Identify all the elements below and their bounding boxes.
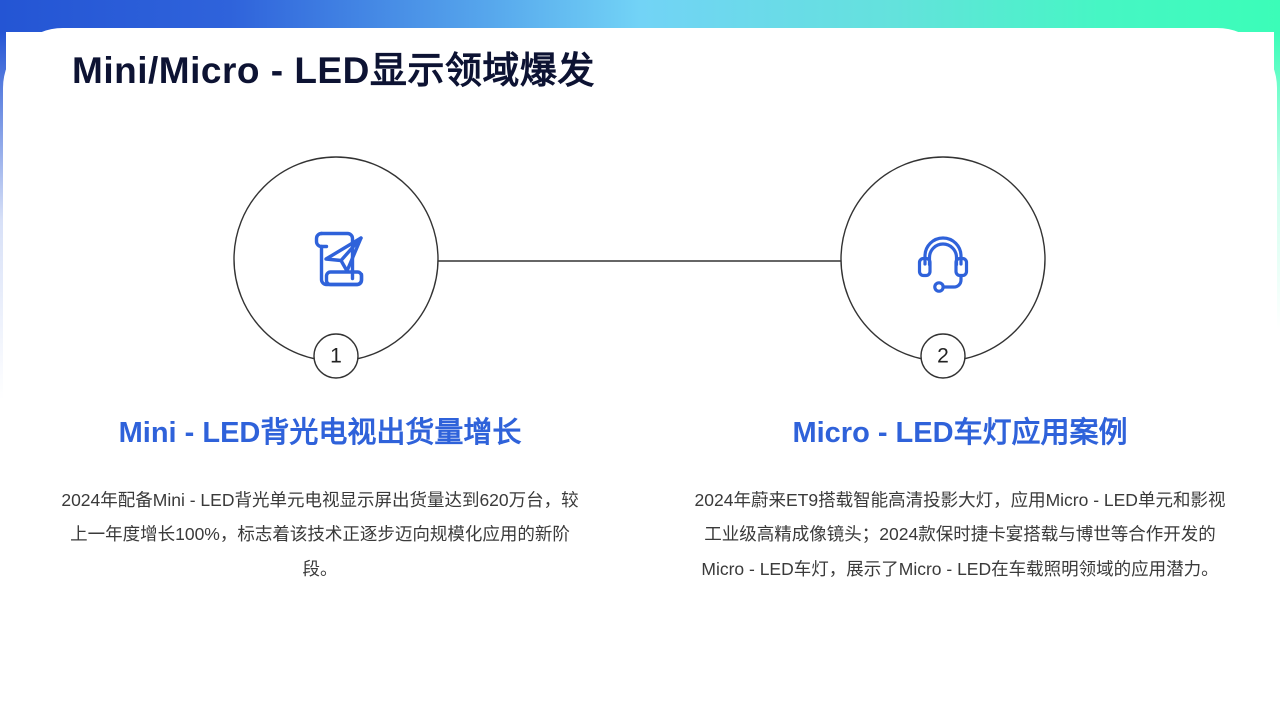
column-2: Micro - LED车灯应用案例 2024年蔚来ET9搭载智能高清投影大灯，应…: [640, 415, 1280, 586]
column-1: Mini - LED背光电视出货量增长 2024年配备Mini - LED背光单…: [0, 415, 640, 586]
column-2-heading: Micro - LED车灯应用案例: [680, 415, 1240, 451]
node-1-badge-label: 1: [330, 345, 342, 368]
column-1-heading: Mini - LED背光电视出货量增长: [40, 415, 600, 451]
node-2-circle: [841, 157, 1045, 361]
column-1-body: 2024年配备Mini - LED背光单元电视显示屏出货量达到620万台，较上一…: [40, 483, 600, 585]
process-diagram: 1 2: [0, 0, 1280, 400]
slide-root: Mini/Micro - LED显示领域爆发 1: [0, 0, 1280, 720]
columns-container: Mini - LED背光电视出货量增长 2024年配备Mini - LED背光单…: [0, 415, 1280, 586]
node-2-badge-label: 2: [937, 345, 949, 368]
column-2-body: 2024年蔚来ET9搭载智能高清投影大灯，应用Micro - LED单元和影视工…: [680, 483, 1240, 585]
